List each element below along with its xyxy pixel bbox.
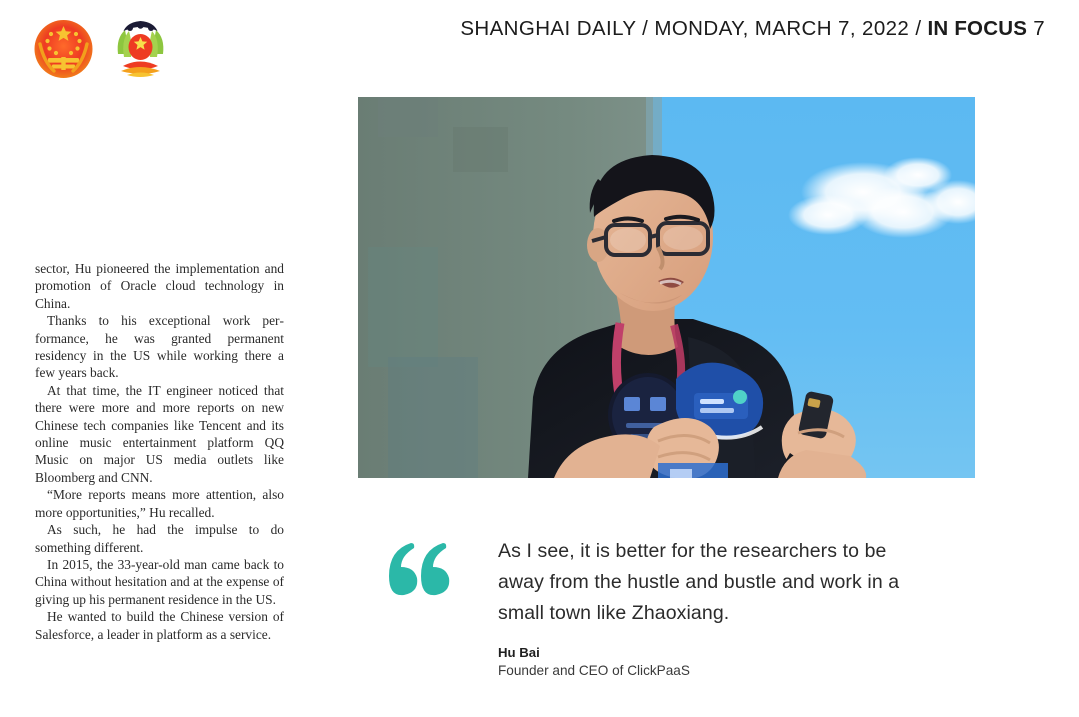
masthead-separator-1: / [636, 17, 654, 40]
masthead-section: IN FOCUS [928, 17, 1028, 40]
emblem-group [32, 14, 172, 84]
article-paragraph: “More reports means more atten­tion, als… [35, 486, 284, 521]
pull-quote-body: As I see, it is better for the researche… [498, 536, 918, 680]
article-paragraph: At that time, the IT engineer no­ticed t… [35, 382, 284, 486]
article-column: sector, Hu pioneered the implementa­tion… [35, 260, 284, 643]
masthead-date: MONDAY, MARCH 7, 2022 [654, 17, 909, 40]
newspaper-page: SHANGHAI DAILY / MONDAY, MARCH 7, 2022 /… [0, 0, 1079, 717]
article-paragraph: As such, he had the impulse to do someth… [35, 521, 284, 556]
article-paragraph: In 2015, the 33-year-old man came back t… [35, 556, 284, 608]
article-paragraph: He wanted to build the Chinese ver­sion … [35, 608, 284, 643]
article-paragraph: sector, Hu pioneered the implementa­tion… [35, 260, 284, 312]
page-number: 7 [1027, 17, 1045, 40]
national-emblem-of-china-icon [32, 14, 95, 84]
masthead: SHANGHAI DAILY / MONDAY, MARCH 7, 2022 /… [460, 17, 1045, 41]
masthead-separator-2: / [909, 17, 927, 40]
article-paragraph: Thanks to his exceptional work per­forma… [35, 312, 284, 382]
hu-bai-speaking-photo [358, 97, 975, 478]
pull-quote-text: As I see, it is better for the researche… [498, 536, 918, 629]
quotation-mark-icon [385, 540, 451, 596]
pull-quote-attribution-role: Founder and CEO of ClickPaaS [498, 661, 918, 680]
pull-quote-attribution-name: Hu Bai [498, 644, 918, 661]
masthead-publication: SHANGHAI DAILY [460, 17, 636, 40]
cppcc-emblem-icon [109, 14, 172, 84]
